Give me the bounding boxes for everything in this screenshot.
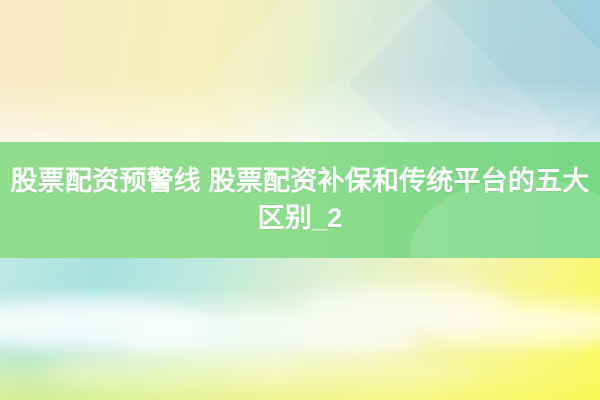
page-title: 股票配资预警线 股票配资补保和传统平台的五大区别_2: [1, 163, 599, 237]
diagonal-shape-icon: [206, 0, 600, 142]
cloud-shape-icon: [40, 350, 300, 394]
cloud-shape-icon: [0, 300, 210, 352]
diagonal-shape-icon: [291, 0, 560, 142]
bottom-warm-overlay: [0, 342, 600, 400]
cloud-shape-icon: [430, 310, 600, 350]
bottom-background-scene: [0, 258, 600, 400]
diagonal-shape-icon: [349, 0, 600, 142]
top-gradient-overlay: [0, 0, 600, 142]
article-cover-banner: 股票配资预警线 股票配资补保和传统平台的五大区别_2: [0, 0, 600, 400]
cloud-shape-icon: [300, 282, 510, 326]
headline-band: 股票配资预警线 股票配资补保和传统平台的五大区别_2: [0, 142, 600, 258]
diagonal-shape-icon: [437, 11, 600, 142]
cloud-shape-icon: [120, 318, 420, 364]
top-background-scene: [0, 0, 600, 142]
bottom-haze-overlay: [0, 288, 600, 354]
cloud-shape-icon: [250, 358, 480, 396]
